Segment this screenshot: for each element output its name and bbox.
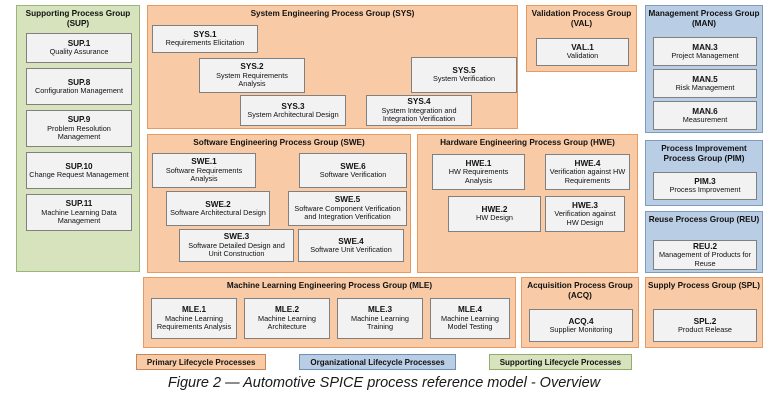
process-name: Software Requirements Analysis <box>155 167 253 184</box>
group-spl: Supply Process Group (SPL) SPL.2 Product… <box>645 277 763 348</box>
group-acq: Acquisition Process Group (ACQ) ACQ.4 Su… <box>521 277 639 348</box>
process-box-man3[interactable]: MAN.3 Project Management <box>653 37 757 66</box>
group-pim: Process Improvement Process Group (PIM) … <box>645 140 763 206</box>
group-swe-title: Software Engineering Process Group (SWE) <box>148 135 410 149</box>
process-box-sys5[interactable]: SYS.5 System Verification <box>411 57 517 93</box>
process-name: Measurement <box>683 116 728 125</box>
process-name: Validation <box>567 52 599 61</box>
process-name: Management of Products for Reuse <box>656 251 754 268</box>
group-reu: Reuse Process Group (REU) REU.2 Manageme… <box>645 211 763 273</box>
group-man: Management Process Group (MAN) MAN.3 Pro… <box>645 5 763 133</box>
group-sup-title: Supporting Process Group (SUP) <box>17 6 139 29</box>
process-name: System Requirements Analysis <box>202 72 302 89</box>
legend-item-primary: Primary Lifecycle Processes <box>136 354 267 370</box>
process-name: Machine Learning Requirements Analysis <box>154 315 234 332</box>
process-name: HW Design <box>476 214 513 223</box>
process-name: Software Detailed Design and Unit Constr… <box>182 242 291 259</box>
process-box-sup9[interactable]: SUP.9 Problem Resolution Management <box>26 110 132 147</box>
legend-item-organizational: Organizational Lifecycle Processes <box>299 354 455 370</box>
process-name: Quality Assurance <box>50 48 109 57</box>
process-name: Software Component Verification and Inte… <box>291 205 404 222</box>
process-name: Software Verification <box>320 171 387 180</box>
process-box-mle3[interactable]: MLE.3 Machine Learning Training <box>337 298 423 339</box>
process-name: Verification against HW Requirements <box>548 168 627 185</box>
process-name: Problem Resolution Management <box>29 125 129 142</box>
process-box-mle4[interactable]: MLE.4 Machine Learning Model Testing <box>430 298 510 339</box>
process-box-spl2[interactable]: SPL.2 Product Release <box>653 309 757 342</box>
process-name: System Verification <box>433 75 495 84</box>
process-box-sup1[interactable]: SUP.1 Quality Assurance <box>26 33 132 63</box>
group-reu-title: Reuse Process Group (REU) <box>646 212 762 226</box>
group-hwe-title: Hardware Engineering Process Group (HWE) <box>418 135 637 149</box>
process-box-val1[interactable]: VAL.1 Validation <box>536 38 629 66</box>
process-reference-model-diagram: Supporting Process Group (SUP) SUP.1 Qua… <box>0 0 768 401</box>
process-box-sup10[interactable]: SUP.10 Change Request Management <box>26 152 132 189</box>
process-name: Requirements Elicitation <box>166 39 245 48</box>
process-box-sys3[interactable]: SYS.3 System Architectural Design <box>240 95 346 126</box>
group-val: Validation Process Group (VAL) VAL.1 Val… <box>526 5 637 72</box>
process-name: HW Requirements Analysis <box>435 168 522 185</box>
figure-caption: Figure 2 — Automotive SPICE process refe… <box>0 375 768 391</box>
group-hwe: Hardware Engineering Process Group (HWE)… <box>417 134 638 273</box>
group-pim-title: Process Improvement Process Group (PIM) <box>646 141 762 164</box>
process-name: Machine Learning Data Management <box>29 209 129 226</box>
process-box-mle1[interactable]: MLE.1 Machine Learning Requirements Anal… <box>151 298 237 339</box>
process-box-hwe1[interactable]: HWE.1 HW Requirements Analysis <box>432 154 525 190</box>
group-sys-title: System Engineering Process Group (SYS) <box>148 6 517 20</box>
process-box-swe6[interactable]: SWE.6 Software Verification <box>299 153 407 188</box>
process-box-sup11[interactable]: SUP.11 Machine Learning Data Management <box>26 194 132 231</box>
process-box-hwe3[interactable]: HWE.3 Verification against HW Design <box>545 196 625 232</box>
process-name: Machine Learning Model Testing <box>433 315 507 332</box>
group-mle: Machine Learning Engineering Process Gro… <box>143 277 516 348</box>
process-name: Change Request Management <box>29 171 128 180</box>
group-sys: System Engineering Process Group (SYS) S… <box>147 5 518 129</box>
process-box-reu2[interactable]: REU.2 Management of Products for Reuse <box>653 240 757 270</box>
process-box-man5[interactable]: MAN.5 Risk Management <box>653 69 757 98</box>
process-name: Product Release <box>678 326 732 335</box>
process-name: Process Improvement <box>670 186 741 195</box>
group-man-title: Management Process Group (MAN) <box>646 6 762 29</box>
process-box-sys1[interactable]: SYS.1 Requirements Elicitation <box>152 25 258 53</box>
process-name: Project Management <box>671 52 738 61</box>
process-box-swe4[interactable]: SWE.4 Software Unit Verification <box>298 229 404 262</box>
legend-label: Primary Lifecycle Processes <box>147 358 256 367</box>
process-name: System Integration and Integration Verif… <box>369 107 469 124</box>
process-name: Software Architectural Design <box>170 209 266 218</box>
group-swe: Software Engineering Process Group (SWE)… <box>147 134 411 273</box>
process-name: Machine Learning Architecture <box>247 315 327 332</box>
process-box-pim3[interactable]: PIM.3 Process Improvement <box>653 172 757 200</box>
legend-item-supporting: Supporting Lifecycle Processes <box>489 354 632 370</box>
process-box-sys2[interactable]: SYS.2 System Requirements Analysis <box>199 58 305 93</box>
legend: Primary Lifecycle Processes Organization… <box>0 354 768 370</box>
process-name: Verification against HW Design <box>548 210 622 227</box>
process-name: Software Unit Verification <box>310 246 392 255</box>
legend-label: Supporting Lifecycle Processes <box>500 358 621 367</box>
process-name: Supplier Monitoring <box>550 326 613 335</box>
group-acq-title: Acquisition Process Group (ACQ) <box>522 278 638 301</box>
process-name: Risk Management <box>676 84 735 93</box>
process-name: Configuration Management <box>35 87 123 96</box>
process-box-swe5[interactable]: SWE.5 Software Component Verification an… <box>288 191 407 226</box>
group-val-title: Validation Process Group (VAL) <box>527 6 636 29</box>
process-box-swe1[interactable]: SWE.1 Software Requirements Analysis <box>152 153 256 188</box>
process-box-man6[interactable]: MAN.6 Measurement <box>653 101 757 130</box>
process-box-acq4[interactable]: ACQ.4 Supplier Monitoring <box>529 309 633 342</box>
process-name: Machine Learning Training <box>340 315 420 332</box>
group-mle-title: Machine Learning Engineering Process Gro… <box>144 278 515 292</box>
process-box-hwe2[interactable]: HWE.2 HW Design <box>448 196 541 232</box>
process-name: System Architectural Design <box>247 111 338 120</box>
process-box-sup8[interactable]: SUP.8 Configuration Management <box>26 68 132 105</box>
process-box-swe2[interactable]: SWE.2 Software Architectural Design <box>166 191 270 226</box>
process-box-hwe4[interactable]: HWE.4 Verification against HW Requiremen… <box>545 154 630 190</box>
process-box-sys4[interactable]: SYS.4 System Integration and Integration… <box>366 95 472 126</box>
process-box-mle2[interactable]: MLE.2 Machine Learning Architecture <box>244 298 330 339</box>
group-sup: Supporting Process Group (SUP) SUP.1 Qua… <box>16 5 140 272</box>
process-box-swe3[interactable]: SWE.3 Software Detailed Design and Unit … <box>179 229 294 262</box>
group-spl-title: Supply Process Group (SPL) <box>646 278 762 292</box>
legend-label: Organizational Lifecycle Processes <box>310 358 444 367</box>
